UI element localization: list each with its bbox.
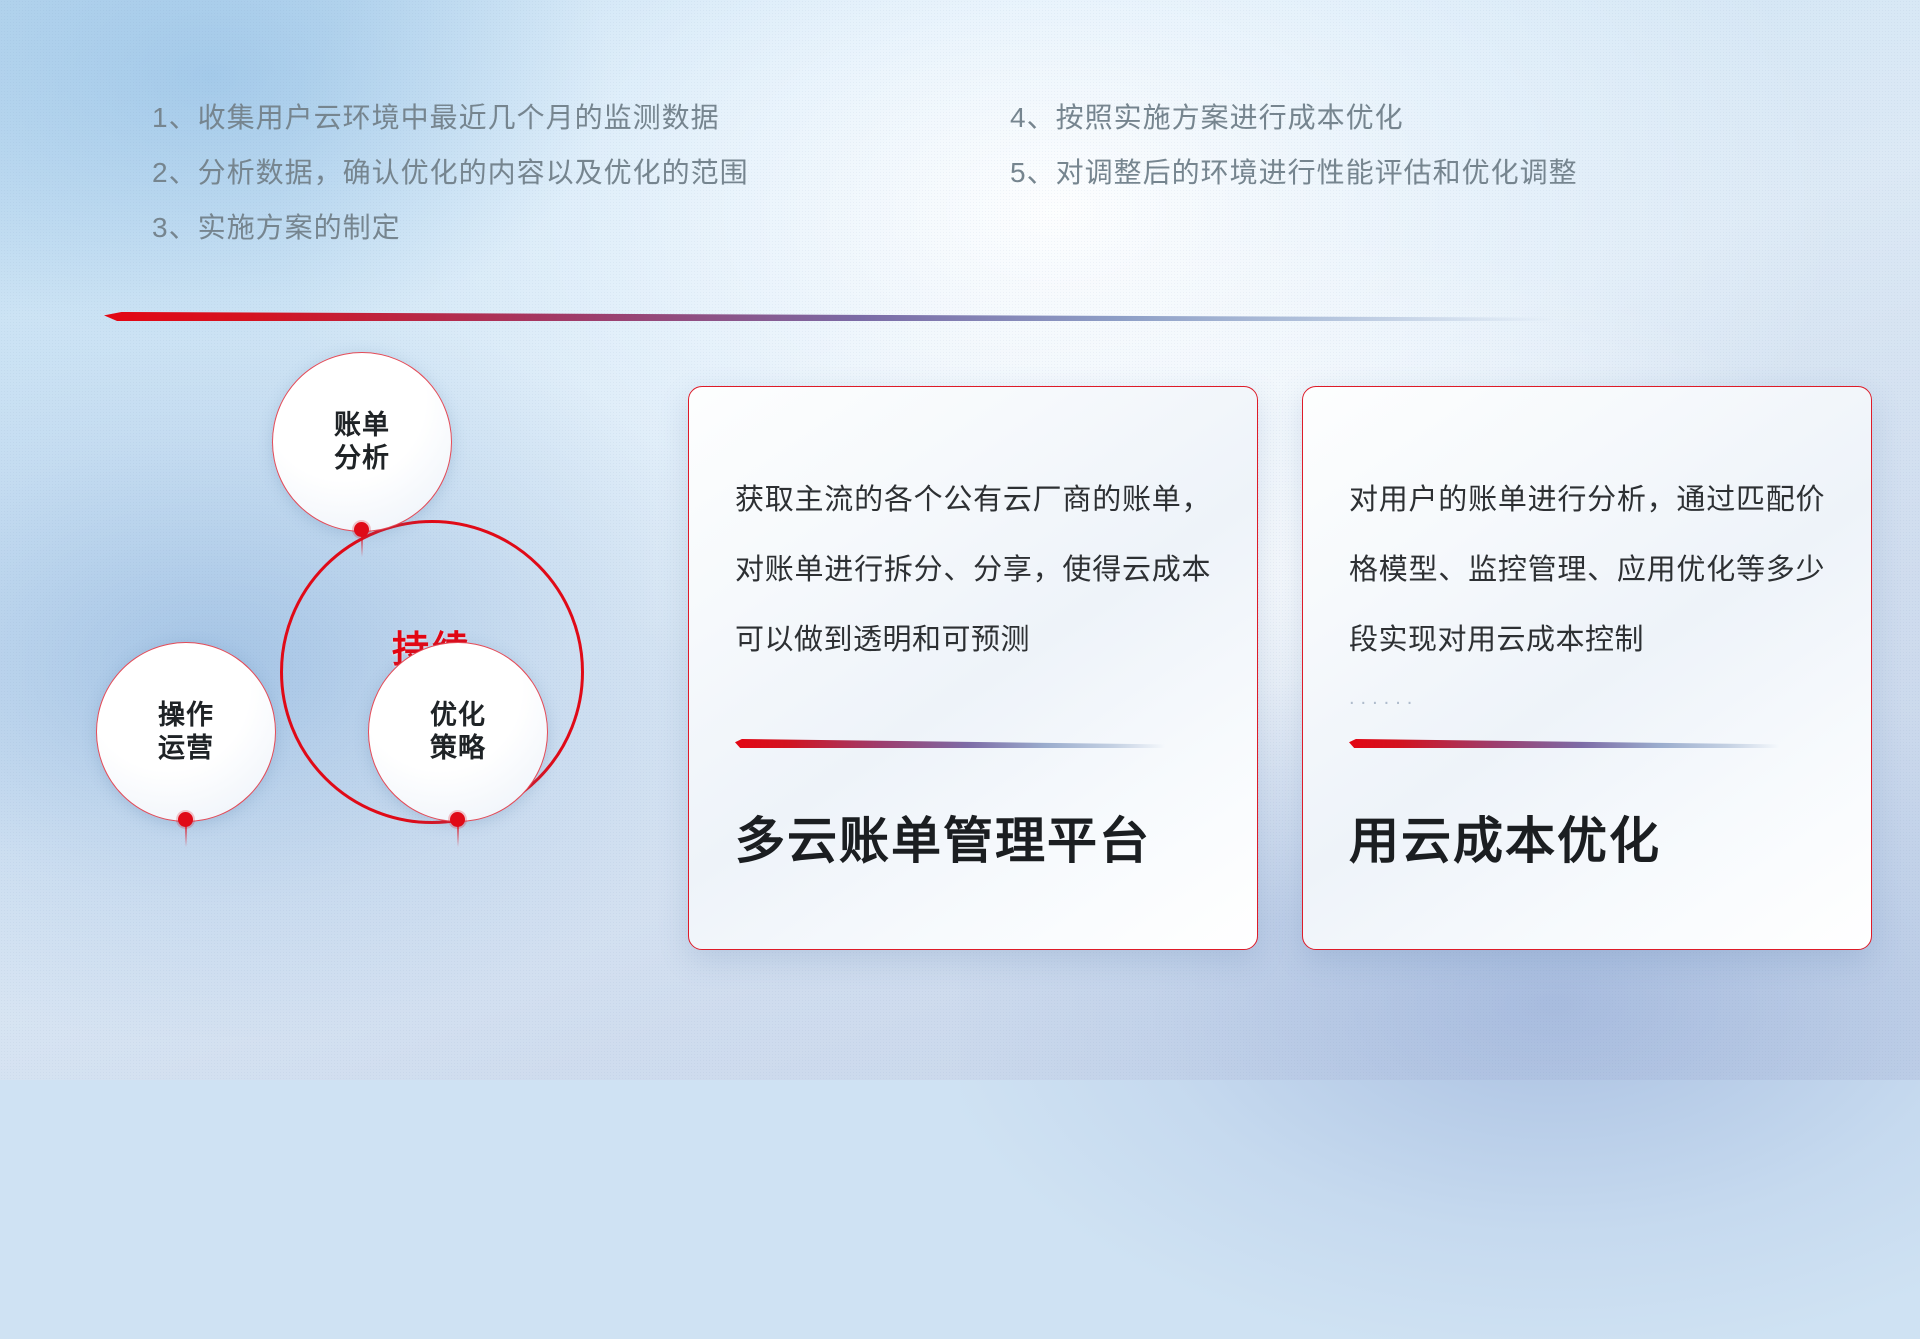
feature-card-1-divider-bar <box>735 739 1165 748</box>
cycle-node-operation-ops-line2: 运营 <box>158 732 214 765</box>
feature-card-2-ellipsis: ...... <box>1349 687 1418 710</box>
cycle-node-operation-ops[interactable]: 操作 运营 <box>96 642 276 822</box>
feature-card-1-divider <box>735 739 1165 748</box>
feature-card-multi-cloud-bill-platform[interactable]: 获取主流的各个公有云厂商的账单，对账单进行拆分、分享，使得云成本可以做到透明和可… <box>688 386 1258 950</box>
feature-card-1-title: 多云账单管理平台 <box>735 801 1151 873</box>
cycle-node-operation-ops-line1: 操作 <box>158 699 214 732</box>
section-divider <box>104 312 1554 321</box>
cycle-node-optimize-policy-line2: 策略 <box>430 732 486 765</box>
feature-card-1-body: 获取主流的各个公有云厂商的账单，对账单进行拆分、分享，使得云成本可以做到透明和可… <box>735 465 1211 676</box>
cycle-node-optimize-policy[interactable]: 优化 策略 <box>368 642 548 822</box>
cycle-node-bill-analysis[interactable]: 账单 分析 <box>272 352 452 532</box>
cycle-node-bill-analysis-line2: 分析 <box>334 442 390 475</box>
section-divider-bar <box>104 312 1554 321</box>
continuous-operation-diagram: 持续 运营 账单 分析 操作 运营 优化 策略 <box>96 352 656 952</box>
step-item-4: 4、按照实施方案进行成本优化 <box>1010 96 1404 136</box>
feature-card-2-divider-bar <box>1349 739 1779 748</box>
step-item-3: 3、实施方案的制定 <box>152 206 401 246</box>
feature-card-cloud-cost-optimization[interactable]: 对用户的账单进行分析，通过匹配价格模型、监控管理、应用优化等多少段实现对用云成本… <box>1302 386 1872 950</box>
process-steps-list: 1、收集用户云环境中最近几个月的监测数据 2、分析数据，确认优化的内容以及优化的… <box>0 96 1920 276</box>
step-item-2: 2、分析数据，确认优化的内容以及优化的范围 <box>152 151 749 191</box>
cycle-node-dot-top-icon <box>354 522 369 537</box>
feature-card-2-divider <box>1349 739 1779 748</box>
cycle-node-tail-right-icon <box>457 825 459 847</box>
cycle-node-optimize-policy-line1: 优化 <box>430 699 486 732</box>
feature-card-2-title: 用云成本优化 <box>1349 801 1661 873</box>
step-item-1: 1、收集用户云环境中最近几个月的监测数据 <box>152 96 720 136</box>
cycle-node-tail-left-icon <box>185 825 187 847</box>
cycle-node-dot-left-icon <box>178 812 193 827</box>
step-item-5: 5、对调整后的环境进行性能评估和优化调整 <box>1010 151 1578 191</box>
cycle-node-bill-analysis-line1: 账单 <box>334 409 390 442</box>
cycle-node-dot-right-icon <box>450 812 465 827</box>
cycle-node-tail-top-icon <box>361 535 363 557</box>
feature-card-2-body: 对用户的账单进行分析，通过匹配价格模型、监控管理、应用优化等多少段实现对用云成本… <box>1349 465 1825 676</box>
